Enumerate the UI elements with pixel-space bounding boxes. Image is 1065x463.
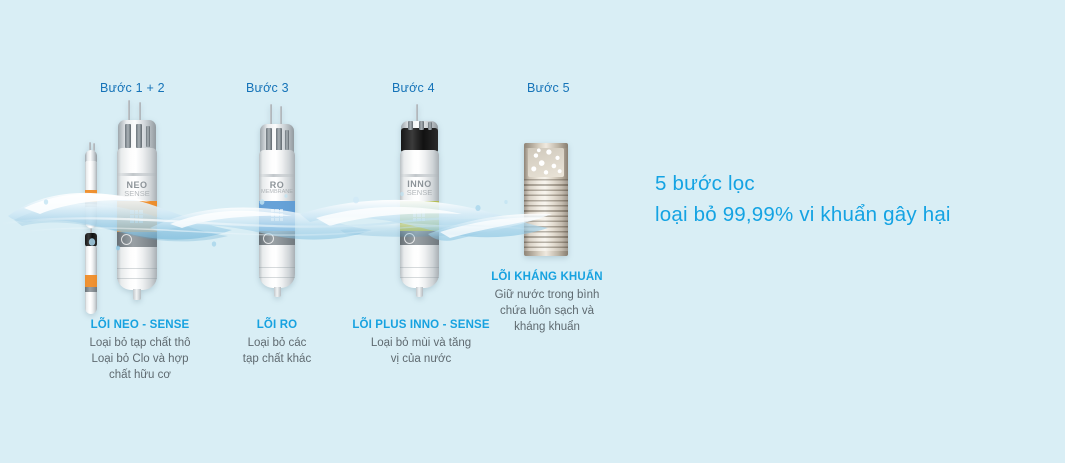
caption-title: LÕI PLUS INNO - SENSE [348, 318, 494, 334]
cartridge-neo-sense: NEO SENSE [108, 100, 166, 300]
step-label-1: Bước 1 + 2 [100, 82, 165, 95]
caption-line: tạp chất khác [216, 352, 338, 368]
caption-line: Giữ nước trong bình [487, 288, 607, 304]
caption-line: Loại bỏ các [216, 336, 338, 352]
step-label-2: Bước 3 [246, 82, 289, 95]
cartridge-3-wordmark: INNO SENSE [400, 180, 439, 197]
caption-ro: LÕI RO Loại bỏ các tạp chất khác [216, 318, 338, 368]
caption-title: LÕI KHÁNG KHUẨN [487, 270, 607, 286]
cartridge-ro: RO MEMBRANE [252, 104, 304, 296]
caption-title: LÕI NEO - SENSE [60, 318, 220, 334]
mini-cartridge-lower [82, 228, 100, 314]
caption-line: chứa luôn sạch và [487, 304, 607, 320]
cartridge-2-wordmark: RO MEMBRANE [259, 181, 295, 196]
cartridge-1-wordmark: NEO SENSE [117, 181, 157, 198]
caption-line: kháng khuẩn [487, 320, 607, 336]
headline-line-2: loại bỏ 99,99% vi khuẩn gây hại [655, 199, 951, 230]
caption-neo-sense: LÕI NEO - SENSE Loại bỏ tạp chất thô Loạ… [60, 318, 220, 383]
filtration-infographic: Bước 1 + 2 Bước 3 Bước 4 Bước 5 NEO SENS… [0, 0, 1065, 463]
headline: 5 bước lọc loại bỏ 99,99% vi khuẩn gây h… [655, 168, 951, 230]
caption-title: LÕI RO [216, 318, 338, 334]
antibacterial-core-mesh [528, 148, 564, 177]
caption-line: vị của nước [348, 352, 494, 368]
headline-line-1: 5 bước lọc [655, 168, 951, 199]
step-label-4: Bước 5 [527, 82, 570, 95]
step-label-3: Bước 4 [392, 82, 435, 95]
mini-cartridge-upper [82, 142, 100, 228]
caption-line: Loại bỏ Clo và hợp [60, 352, 220, 368]
antibacterial-core-ribs [524, 179, 568, 251]
antibacterial-core [524, 143, 568, 256]
caption-line: chất hữu cơ [60, 368, 220, 384]
caption-plus-inno-sense: LÕI PLUS INNO - SENSE Loại bỏ mùi và tăn… [348, 318, 494, 368]
caption-line: Loại bỏ mùi và tăng [348, 336, 494, 352]
cartridge-plus-inno-sense: INNO SENSE [392, 104, 448, 296]
caption-line: Loại bỏ tạp chất thô [60, 336, 220, 352]
caption-khang-khuan: LÕI KHÁNG KHUẨN Giữ nước trong bình chứa… [487, 270, 607, 335]
